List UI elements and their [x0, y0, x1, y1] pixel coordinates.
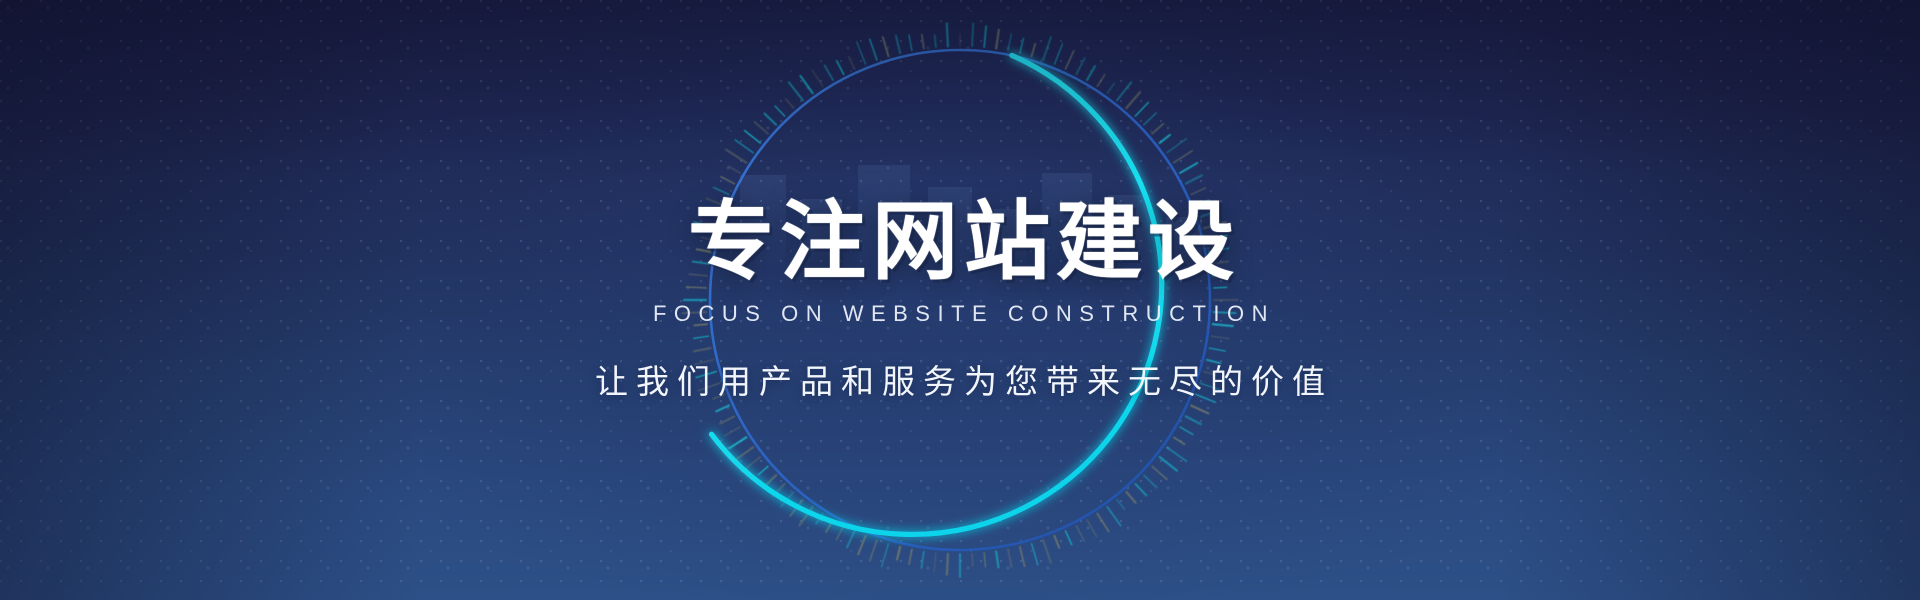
hero-banner: 专注网站建设 FOCUS ON WEBSITE CONSTRUCTION 让我们…: [0, 0, 1920, 600]
banner-subtitle-cn: 让我们用产品和服务为您带来无尽的价值: [587, 355, 1333, 403]
banner-subtitle-en: FOCUS ON WEBSITE CONSTRUCTION: [645, 301, 1275, 327]
banner-headline: 专注网站建设: [680, 197, 1240, 287]
banner-content: 专注网站建设 FOCUS ON WEBSITE CONSTRUCTION 让我们…: [0, 0, 1920, 600]
